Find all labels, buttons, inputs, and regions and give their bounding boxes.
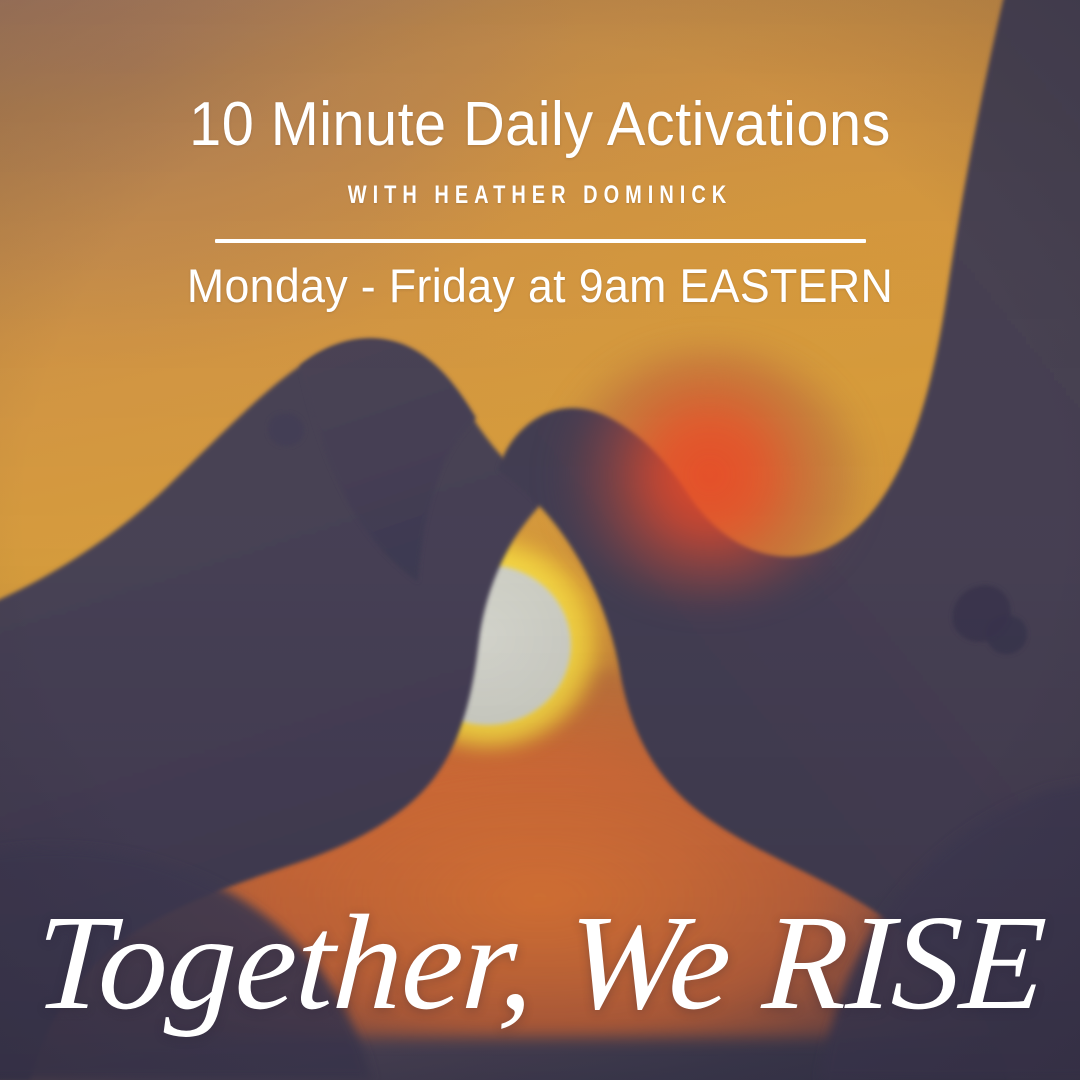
tagline-together-we-rise: Together, We RISE bbox=[0, 895, 1080, 1031]
text-overlay: 10 Minute Daily Activations WITH HEATHER… bbox=[0, 0, 1080, 1080]
presenter-byline: WITH HEATHER DOMINICK bbox=[108, 181, 972, 210]
schedule-text: Monday - Friday at 9am EASTERN bbox=[27, 258, 1053, 313]
horizontal-rule-divider bbox=[215, 239, 866, 243]
poster-canvas: 10 Minute Daily Activations WITH HEATHER… bbox=[0, 0, 1080, 1080]
page-title: 10 Minute Daily Activations bbox=[38, 92, 1042, 159]
